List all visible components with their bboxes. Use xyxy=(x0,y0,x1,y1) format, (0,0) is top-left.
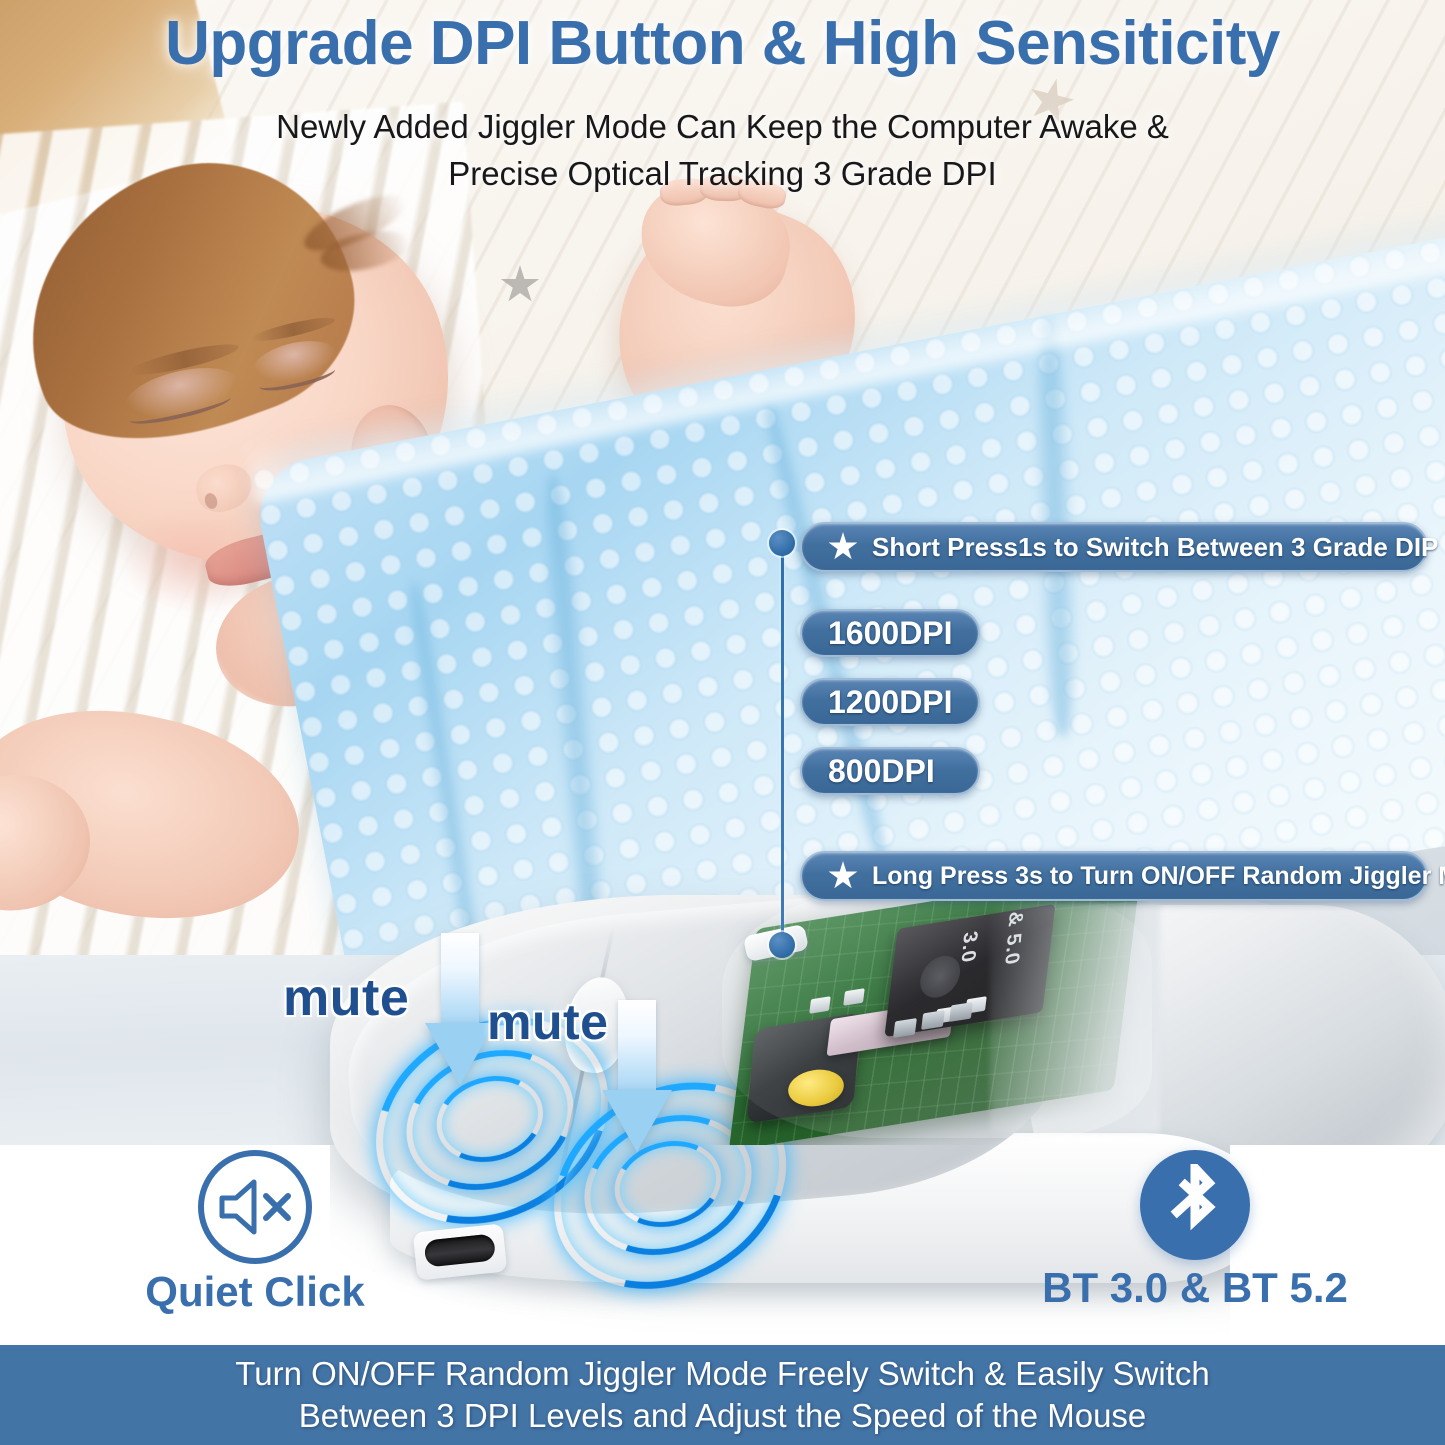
banner-line-2: Between 3 DPI Levels and Adjust the Spee… xyxy=(0,1397,1445,1435)
dpi-level-800: 800DPI xyxy=(800,747,980,795)
dpi-level-label: 1200DPI xyxy=(828,684,953,721)
dpi-level-1600: 1600DPI xyxy=(800,609,980,657)
callout-short-press: Short Press1s to Switch Between 3 Grade … xyxy=(800,522,1428,572)
subtitle-line-1: Newly Added Jiggler Mode Can Keep the Co… xyxy=(0,108,1445,146)
product-infographic: 3.0 & 5.0 mute mute Short Press1s to Swi… xyxy=(0,0,1445,1445)
dpi-level-label: 1600DPI xyxy=(828,615,953,652)
long-press-text: Long Press 3s to Turn ON/OFF Random Jigg… xyxy=(872,862,1445,891)
feature-quiet-click: Quiet Click xyxy=(60,1150,450,1316)
bluetooth-icon xyxy=(1140,1150,1250,1260)
shell-translucency xyxy=(990,902,1160,1132)
callout-dot-top xyxy=(769,530,795,556)
page-title: Upgrade DPI Button & High Sensiticity xyxy=(0,8,1445,79)
star-icon xyxy=(828,532,858,562)
mute-label-left: mute xyxy=(283,968,409,1028)
chip-version-primary: 3.0 xyxy=(956,929,982,965)
bottom-banner: Turn ON/OFF Random Jiggler Mode Freely S… xyxy=(0,1345,1445,1445)
short-press-text: Short Press1s to Switch Between 3 Grade … xyxy=(872,532,1438,563)
press-down-arrow-icon xyxy=(602,1000,672,1152)
banner-line-1: Turn ON/OFF Random Jiggler Mode Freely S… xyxy=(0,1355,1445,1393)
dpi-level-1200: 1200DPI xyxy=(800,678,980,726)
mute-label-right: mute xyxy=(487,993,608,1051)
press-down-arrow-icon-front xyxy=(602,1145,672,1152)
feature-label-quiet-click: Quiet Click xyxy=(60,1268,450,1316)
callout-long-press: Long Press 3s to Turn ON/OFF Random Jigg… xyxy=(800,851,1428,901)
feature-label-bluetooth: BT 3.0 & BT 5.2 xyxy=(995,1264,1395,1312)
feature-bluetooth: BT 3.0 & BT 5.2 xyxy=(995,1150,1395,1312)
mute-speaker-icon xyxy=(198,1150,312,1264)
subtitle-line-2: Precise Optical Tracking 3 Grade DPI xyxy=(0,155,1445,193)
callout-connector-line xyxy=(781,548,784,944)
press-down-arrow-icon xyxy=(425,933,495,1085)
dpi-level-label: 800DPI xyxy=(828,753,935,790)
star-icon xyxy=(828,861,858,891)
callout-dot-bottom xyxy=(769,932,795,958)
